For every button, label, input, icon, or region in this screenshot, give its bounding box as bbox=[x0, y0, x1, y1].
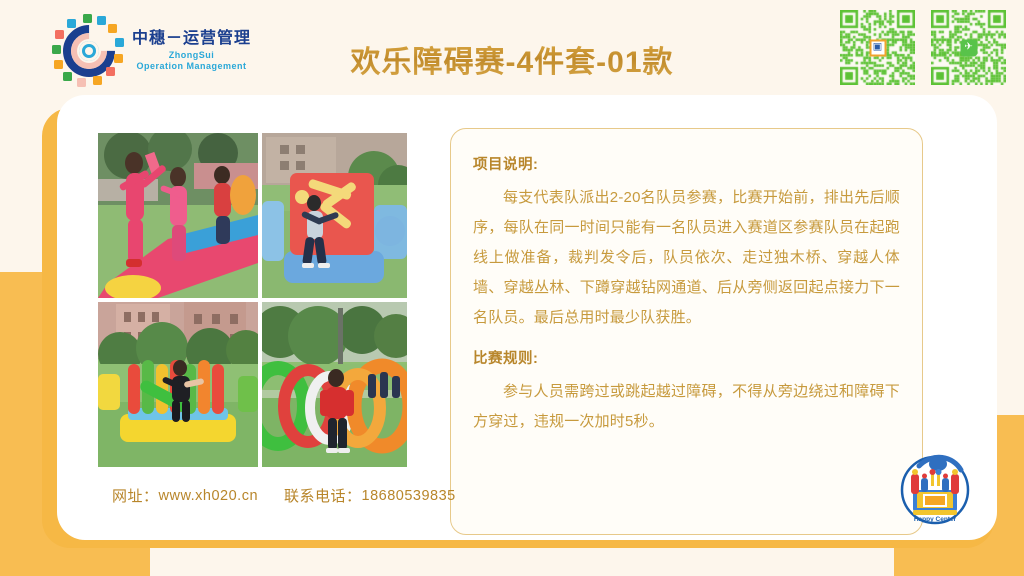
content-card: 项目说明: 每支代表队派出2-20名队员参赛，比赛开始前，排出先后顺序，每队在同… bbox=[57, 95, 997, 540]
section-body-project: 每支代表队派出2-20名队员参赛，比赛开始前，排出先后顺序，每队在同一时间只能有… bbox=[473, 183, 900, 333]
contact-info: 网址： www.xh020.cn 联系电话： 18680539835 bbox=[112, 485, 456, 506]
website-value[interactable]: www.xh020.cn bbox=[159, 488, 259, 504]
alipay-qr[interactable]: ▣ bbox=[840, 10, 915, 85]
photo-balance-beam[interactable] bbox=[98, 133, 258, 298]
photo-gallery bbox=[98, 133, 407, 467]
logo-name-en-line2: Operation Management bbox=[132, 62, 251, 71]
section-title-project: 项目说明: bbox=[473, 153, 900, 174]
alipay-icon: ▣ bbox=[869, 39, 886, 56]
section-title-rules: 比赛规则: bbox=[473, 347, 900, 368]
logo-name-en-line1: ZhongSui bbox=[132, 51, 251, 60]
wechat-icon: ✈ bbox=[960, 39, 977, 56]
company-logo: 中穗－运营管理 ZhongSui Operation Management bbox=[52, 14, 251, 88]
section-body-rules: 参与人员需跨过或跳起越过障碍，不得从旁边绕过和障碍下方穿过，违规一次加时5秒。 bbox=[473, 377, 900, 437]
zhongsui-logo-icon bbox=[52, 14, 126, 88]
wechat-qr[interactable]: ✈ bbox=[931, 10, 1006, 85]
page-header: 中穗－运营管理 ZhongSui Operation Management 欢乐… bbox=[0, 0, 1024, 96]
photo-body-wall[interactable] bbox=[262, 133, 407, 298]
website-label: 网址： bbox=[112, 485, 159, 506]
photo-jungle-pillars[interactable] bbox=[98, 302, 258, 467]
phone-value: 18680539835 bbox=[362, 488, 456, 504]
qr-code-group: ▣ ✈ bbox=[840, 10, 1006, 85]
phone-label: 联系电话： bbox=[284, 485, 362, 506]
photo-ring-tunnels[interactable] bbox=[262, 302, 407, 467]
logo-name-cn: 中穗－运营管理 bbox=[132, 31, 251, 47]
poster-page: 中穗－运营管理 ZhongSui Operation Management 欢乐… bbox=[0, 0, 1024, 576]
happy-center-logo: Happy Center bbox=[895, 448, 975, 528]
description-panel: 项目说明: 每支代表队派出2-20名队员参赛，比赛开始前，排出先后顺序，每队在同… bbox=[450, 128, 923, 535]
happy-center-label: Happy Center bbox=[914, 516, 957, 523]
